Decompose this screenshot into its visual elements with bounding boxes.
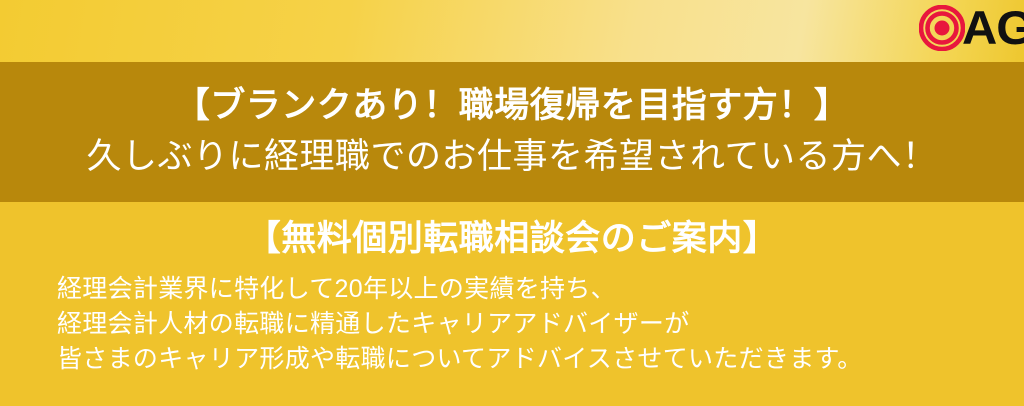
subheading: 【無料個別転職相談会のご案内】	[0, 217, 1024, 261]
body-text-block: 経理会計業界に特化して20年以上の実績を持ち、 経理会計人材の転職に精通したキャ…	[57, 272, 997, 377]
headline-line-1: 【ブランクあり！職場復帰を目指す方！】	[175, 81, 850, 131]
logo-strip: AG	[0, 0, 1024, 62]
body-section: 【無料個別転職相談会のご案内】 経理会計業界に特化して20年以上の実績を持ち、 …	[0, 202, 1024, 406]
brand-logo-text: AG	[962, 5, 1024, 51]
brand-logo[interactable]: AG	[919, 3, 1024, 53]
target-rings-icon	[919, 5, 965, 51]
headline-band: 【ブランクあり！職場復帰を目指す方！】 久しぶりに経理職でのお仕事を希望されてい…	[0, 62, 1024, 202]
body-line: 皆さまのキャリア形成や転職についてアドバイスさせていただきます。	[57, 342, 997, 377]
headline-line-2: 久しぶりに経理職でのお仕事を希望されている方へ！	[87, 131, 938, 183]
promo-banner: AG 【ブランクあり！職場復帰を目指す方！】 久しぶりに経理職でのお仕事を希望さ…	[0, 0, 1024, 406]
body-line: 経理会計人材の転職に精通したキャリアアドバイザーが	[57, 307, 997, 342]
body-line: 経理会計業界に特化して20年以上の実績を持ち、	[57, 272, 997, 307]
